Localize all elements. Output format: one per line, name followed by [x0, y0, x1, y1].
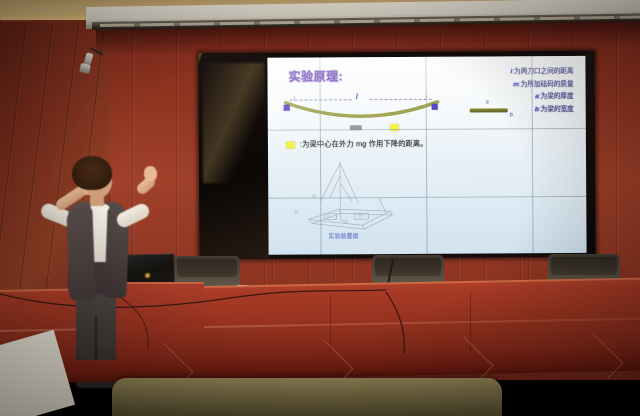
tick-left: | [294, 96, 295, 102]
legend-item: b:为梁的宽度 [535, 102, 574, 112]
span-label: l [356, 92, 358, 101]
presentation-slide[interactable]: 实验原理: l:为两刀口之间的距离 m:为所加砝码的质量 a:为梁的厚度 b:为… [267, 56, 586, 255]
legend-text: :为所加砝码的质量 [519, 80, 574, 87]
cross-section-bar [470, 108, 508, 112]
legend-text: :为梁的厚度 [539, 93, 574, 100]
video-wall[interactable]: 实验原理: l:为两刀口之间的距离 m:为所加砝码的质量 a:为梁的厚度 b:为… [198, 51, 595, 259]
beam-support-right [432, 104, 438, 110]
lecture-hall-scene: 实验原理: l:为两刀口之间的距离 m:为所加砝码的质量 a:为梁的厚度 b:为… [0, 0, 640, 416]
legend-item: l:为两刀口之间的距离 [510, 65, 573, 75]
apparatus-svg [294, 157, 425, 244]
presenter-right-hand [144, 166, 157, 181]
legend-item: a:为梁的厚度 [535, 90, 574, 100]
width-label: b [510, 112, 513, 118]
screen-glare [202, 63, 265, 183]
video-wall-dark-panel-right [585, 51, 595, 257]
thickness-label: a [486, 99, 489, 105]
presenter-vest-left [66, 208, 95, 301]
slide-title: 实验原理: [288, 67, 343, 84]
apparatus-drawing: M N K 实验装置图 [294, 157, 425, 244]
beam-diagram: l | | [282, 90, 442, 133]
presenter-hair [72, 156, 112, 190]
apparatus-label: M [294, 210, 298, 215]
highlight-marker-note [286, 141, 295, 148]
bezel-seam-vertical [425, 57, 427, 254]
beam-support-left [284, 105, 290, 111]
legend-item: m:为所加砝码的质量 [513, 77, 574, 87]
video-wall-dark-panel-left [198, 53, 269, 259]
bezel-seam-vertical [319, 57, 321, 254]
apparatus-caption: 实验装置图 [328, 231, 358, 240]
foreground-chair-back [112, 378, 502, 416]
beam-cross-section: a b [460, 98, 522, 120]
slide-note-line: :为梁中心在外力 mg 作用下降的距离。 [286, 139, 428, 150]
legend-text: :为两刀口之间的距离 [512, 68, 573, 75]
legend-text: :为梁的宽度 [539, 105, 574, 112]
